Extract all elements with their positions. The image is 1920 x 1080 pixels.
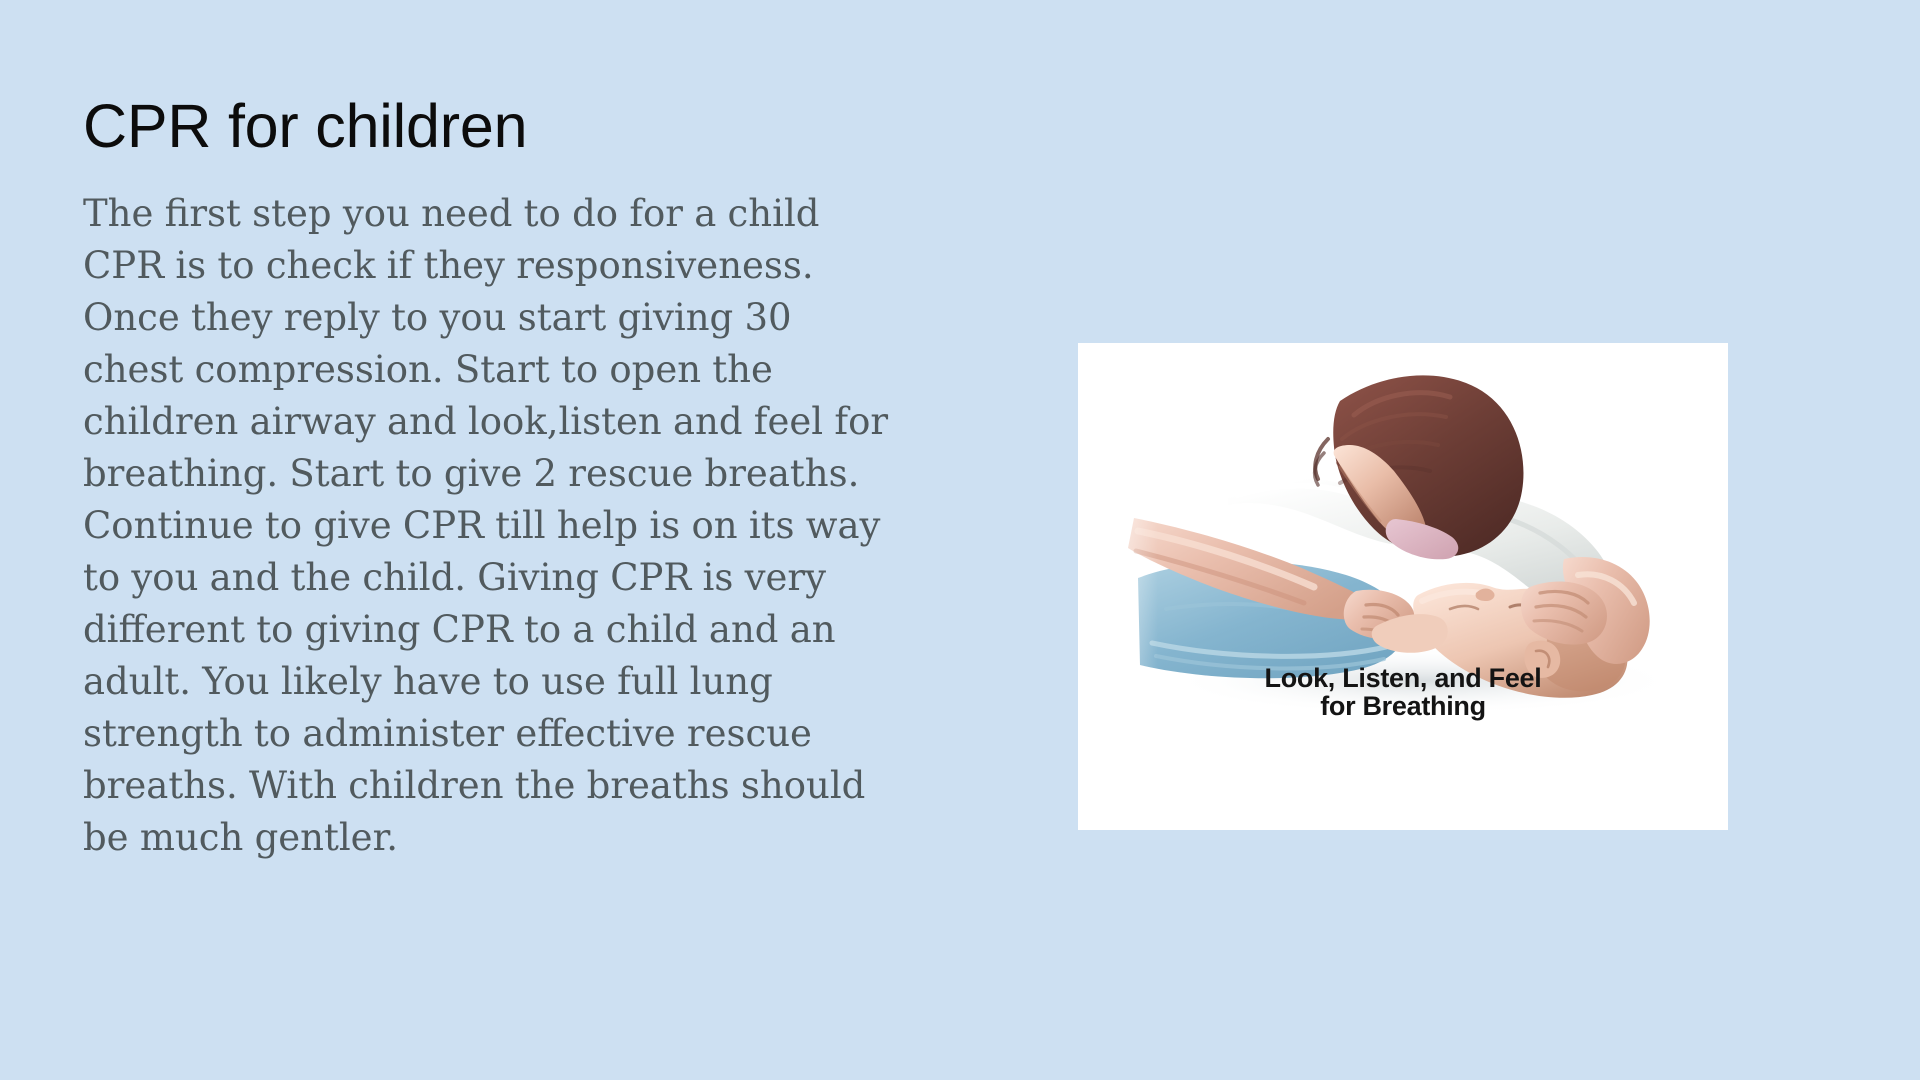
image-caption-line-1: Look, Listen, and Feel	[1078, 665, 1728, 693]
body-paragraph: The first step you need to do for a chil…	[83, 188, 893, 864]
illustration-card: Look, Listen, and Feel for Breathing	[1078, 343, 1728, 830]
page-title: CPR for children	[83, 92, 913, 160]
image-caption: Look, Listen, and Feel for Breathing	[1078, 665, 1728, 721]
slide-canvas: CPR for children The first step you need…	[0, 0, 1920, 1080]
text-column: CPR for children The first step you need…	[83, 92, 913, 864]
image-caption-line-2: for Breathing	[1078, 693, 1728, 721]
